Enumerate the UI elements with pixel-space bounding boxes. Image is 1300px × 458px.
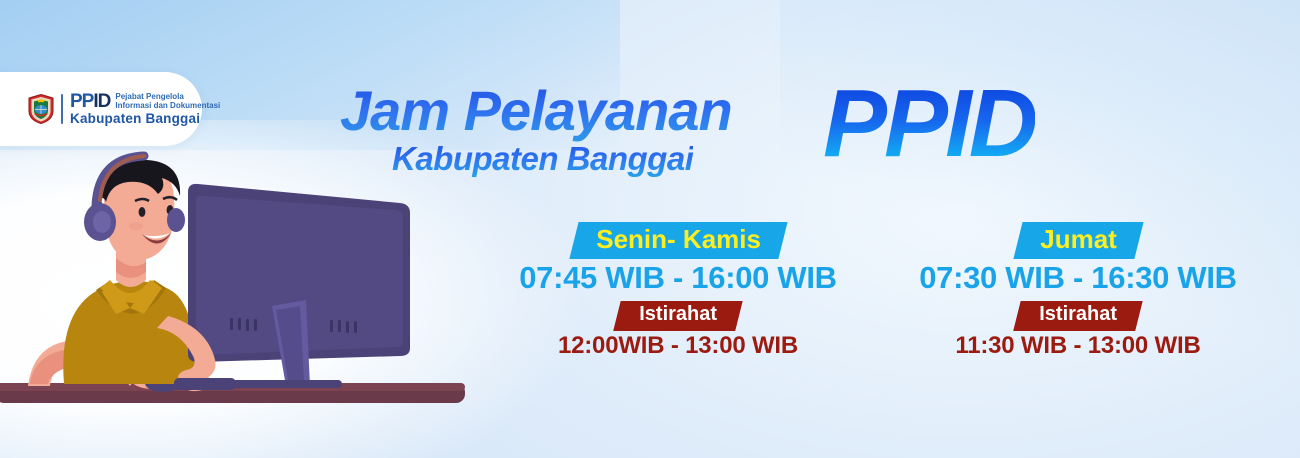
break-badge-label: Istirahat [639, 303, 717, 327]
service-hours-text: 07:30 WIB - 16:30 WIB [878, 261, 1278, 296]
logo-acronym: PPID [70, 92, 110, 111]
logo-acronym-pp: PP [70, 91, 93, 112]
break-badge-label: Istirahat [1039, 303, 1117, 327]
schedule-block: Senin- Kamis 07:45 WIB - 16:00 WIB Istir… [478, 222, 1278, 382]
logo-text-block: PPID Pejabat Pengelola Informasi dan Dok… [70, 92, 220, 126]
day-badge-label: Jumat [1040, 224, 1117, 255]
break-hours-text: 12:00WIB - 13:00 WIB [478, 333, 878, 360]
day-badge: Senin- Kamis [569, 222, 787, 259]
break-badge: Istirahat [613, 301, 742, 331]
ppid-wordmark: PPID [823, 74, 1035, 175]
day-badge-label: Senin- Kamis [596, 224, 761, 255]
break-badge: Istirahat [1013, 301, 1142, 331]
headline-block: Jam Pelayanan Kabupaten Banggai PPID [340, 78, 1120, 188]
page-subtitle: Kabupaten Banggai [392, 140, 693, 178]
eye [139, 207, 146, 217]
page-title: Jam Pelayanan [340, 78, 732, 143]
day-badge: Jumat [1013, 222, 1143, 259]
schedule-column-jumat: Jumat 07:30 WIB - 16:30 WIB Istirahat 11… [878, 222, 1278, 360]
schedule-column-senin-kamis: Senin- Kamis 07:45 WIB - 16:00 WIB Istir… [478, 222, 878, 360]
service-hours-text: 07:45 WIB - 16:00 WIB [478, 261, 878, 296]
logo-divider [61, 94, 63, 124]
keyboard-icon [174, 378, 236, 390]
ppid-logo-card: PPID Pejabat Pengelola Informasi dan Dok… [0, 72, 202, 146]
logo-region-label: Kabupaten Banggai [70, 112, 220, 126]
logo-subtitle-line2: Informasi dan Dokumentasi [115, 102, 220, 110]
logo-acronym-id: ID [93, 91, 110, 112]
banggai-regency-crest-icon [28, 94, 54, 124]
service-hours-banner: PPID Pejabat Pengelola Informasi dan Dok… [0, 0, 1300, 458]
break-hours-text: 11:30 WIB - 13:00 WIB [878, 333, 1278, 360]
